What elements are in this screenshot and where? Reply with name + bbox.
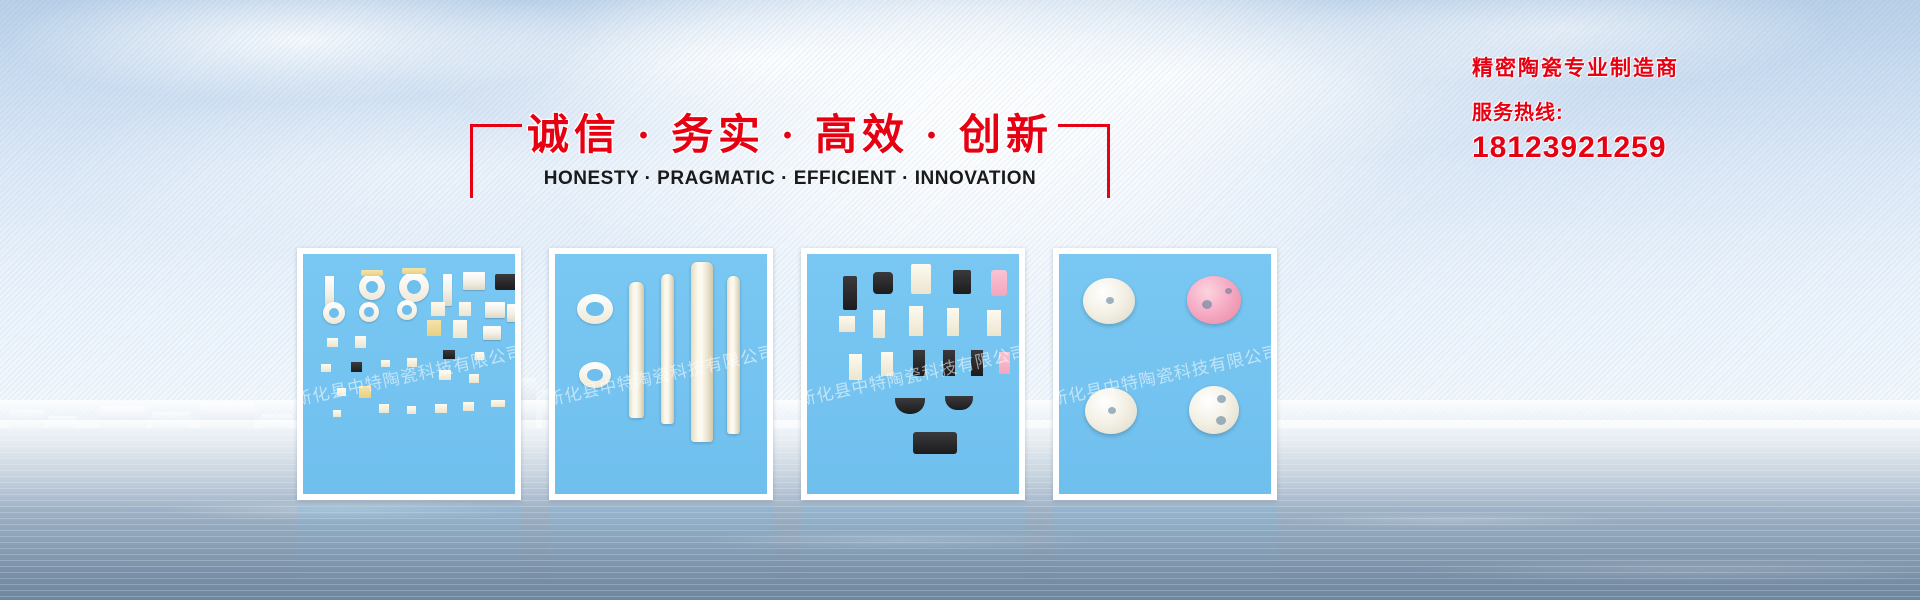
product-image-1: 新化县中特陶瓷科技有限公司 [303,254,515,494]
panel-watermark-1: 新化县中特陶瓷科技有限公司 [303,337,515,410]
contact-block: 精密陶瓷专业制造商 服务热线: 18123921259 [1472,52,1892,165]
slogan-english: HONESTY · PRAGMATIC · EFFICIENT · INNOVA… [470,168,1110,190]
product-image-2: 新化县中特陶瓷科技有限公司 [555,254,767,494]
slogan-chinese: 诚信 · 务实 · 高效 · 创新 [470,108,1110,164]
product-image-3: 新化县中特陶瓷科技有限公司 [807,254,1019,494]
product-panel-2[interactable]: 新化县中特陶瓷科技有限公司 [549,248,773,500]
company-tagline: 精密陶瓷专业制造商 [1472,52,1892,82]
product-gallery: 新化县中特陶瓷科技有限公司 新化县中特陶瓷科技有限公司 [297,248,1277,500]
product-image-4: 新化县中特陶瓷科技有限公司 [1059,254,1271,494]
hero-banner: 诚信 · 务实 · 高效 · 创新 HONESTY · PRAGMATIC · … [0,0,1920,600]
product-panel-1[interactable]: 新化县中特陶瓷科技有限公司 [297,248,521,500]
product-panel-4[interactable]: 新化县中特陶瓷科技有限公司 [1053,248,1277,500]
slogan-block: 诚信 · 务实 · 高效 · 创新 HONESTY · PRAGMATIC · … [470,108,1110,206]
hotline-number[interactable]: 18123921259 [1472,131,1892,165]
hotline-label: 服务热线: [1472,96,1892,125]
product-panel-3[interactable]: 新化县中特陶瓷科技有限公司 [801,248,1025,500]
